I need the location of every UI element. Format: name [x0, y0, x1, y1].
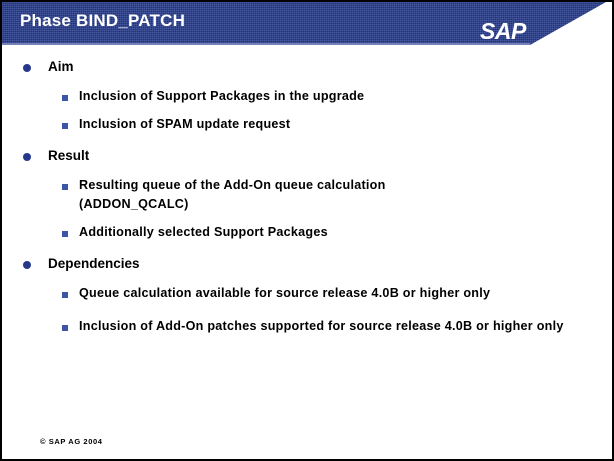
bullet-circle-icon	[23, 64, 31, 72]
bullet-square-icon	[62, 325, 68, 331]
page-title: Phase BIND_PATCH	[20, 11, 185, 31]
presentation-slide: Phase BIND_PATCH SAP Aim Inclusion of Su…	[0, 0, 614, 461]
bullet-circle-icon	[23, 153, 31, 161]
bullet-level2-label: Inclusion of Support Packages in the upg…	[79, 87, 584, 106]
bullet-level1-label: Aim	[48, 59, 74, 74]
bullet-square-icon	[62, 292, 68, 298]
bullet-level2-label: Inclusion of Add-On patches supported fo…	[79, 317, 564, 336]
bullet-level1-dependencies: Dependencies	[2, 254, 612, 274]
bullet-level2-label: Inclusion of SPAM update request	[79, 115, 584, 134]
copyright-footer: © SAP AG 2004	[40, 437, 103, 446]
bullet-level1-result: Result	[2, 146, 612, 166]
bullet-square-icon	[62, 231, 68, 237]
bullet-level2-result-2: Additionally selected Support Packages	[2, 223, 612, 242]
slide-header-banner: Phase BIND_PATCH SAP	[2, 2, 612, 45]
spacer	[2, 245, 612, 254]
bullet-level1-aim: Aim	[2, 57, 612, 77]
spacer	[2, 306, 612, 317]
bullet-level2-dependencies-1: Queue calculation available for source r…	[2, 284, 612, 303]
sap-logo: SAP	[480, 20, 526, 43]
bullet-square-icon	[62, 184, 68, 190]
bullet-square-icon	[62, 123, 68, 129]
bullet-level2-aim-2: Inclusion of SPAM update request	[2, 115, 612, 134]
bullet-circle-icon	[23, 261, 31, 269]
bullet-level2-label: Queue calculation available for source r…	[79, 284, 531, 303]
bullet-level2-label: Resulting queue of the Add-On queue calc…	[79, 176, 419, 214]
slide-body: Aim Inclusion of Support Packages in the…	[2, 57, 612, 339]
bullet-square-icon	[62, 95, 68, 101]
bullet-level1-label: Dependencies	[48, 256, 140, 271]
bullet-level2-dependencies-2: Inclusion of Add-On patches supported fo…	[2, 317, 612, 336]
spacer	[2, 137, 612, 146]
bullet-level2-label: Additionally selected Support Packages	[79, 223, 584, 242]
bullet-level2-aim-1: Inclusion of Support Packages in the upg…	[2, 87, 612, 106]
bullet-level2-result-1: Resulting queue of the Add-On queue calc…	[2, 176, 612, 214]
banner-bottom-edge	[2, 43, 530, 45]
bullet-level1-label: Result	[48, 148, 89, 163]
